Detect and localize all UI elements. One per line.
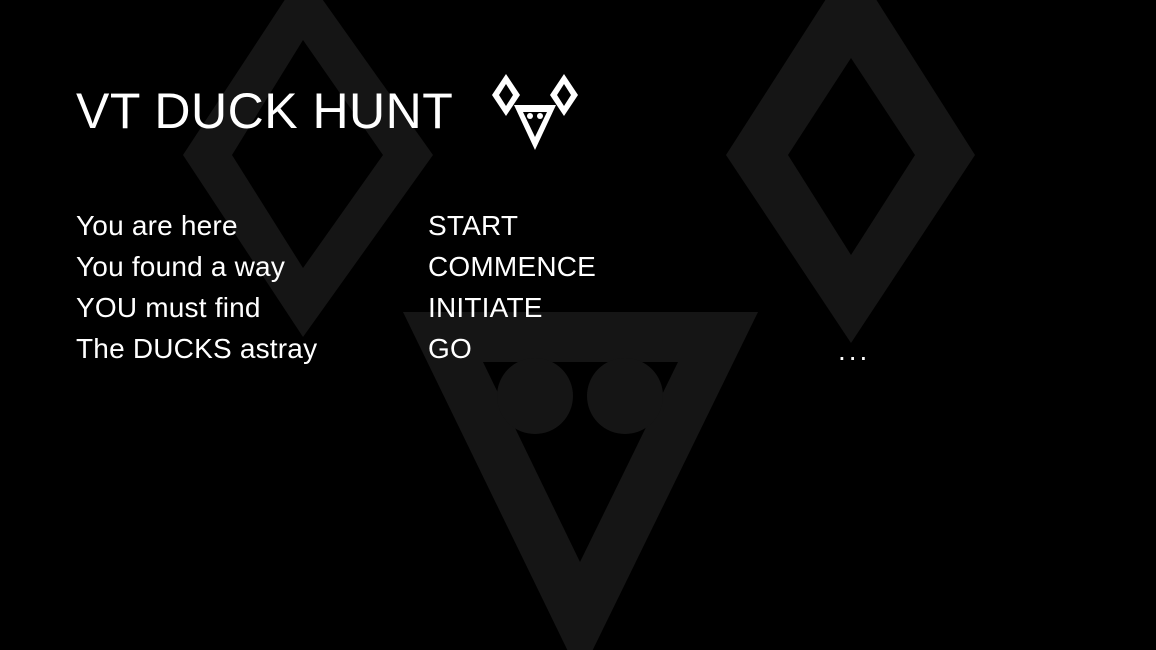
action-item-go[interactable]: GO <box>428 328 848 369</box>
poem-line: You found a way <box>76 246 428 287</box>
action-item-start[interactable]: START <box>428 205 848 246</box>
poem-line: You are here <box>76 205 428 246</box>
action-item-initiate[interactable]: INITIATE <box>428 287 848 328</box>
content-layer: VT DUCK HUNT You are here You found a wa… <box>0 0 1156 650</box>
vt-duck-hunt-logo-icon <box>489 74 581 150</box>
action-item-commence[interactable]: COMMENCE <box>428 246 848 287</box>
logo-triangle-icon <box>514 105 556 150</box>
more-actions-ellipsis[interactable]: ... <box>838 330 870 371</box>
logo-diamond-right-icon <box>550 74 578 116</box>
logo-eye-right-icon <box>537 113 543 119</box>
intro-block: You are here You found a way YOU must fi… <box>76 205 848 369</box>
poem-column: You are here You found a way YOU must fi… <box>76 205 428 369</box>
logo-diamond-left-icon <box>492 74 520 116</box>
header: VT DUCK HUNT <box>76 72 581 150</box>
poem-line: YOU must find <box>76 287 428 328</box>
action-column: START COMMENCE INITIATE GO <box>428 205 848 369</box>
page-title: VT DUCK HUNT <box>76 86 453 136</box>
duck-hunt-title-screen: VT DUCK HUNT You are here You found a wa… <box>0 0 1156 650</box>
logo-eye-left-icon <box>527 113 533 119</box>
poem-line: The DUCKS astray <box>76 328 428 369</box>
